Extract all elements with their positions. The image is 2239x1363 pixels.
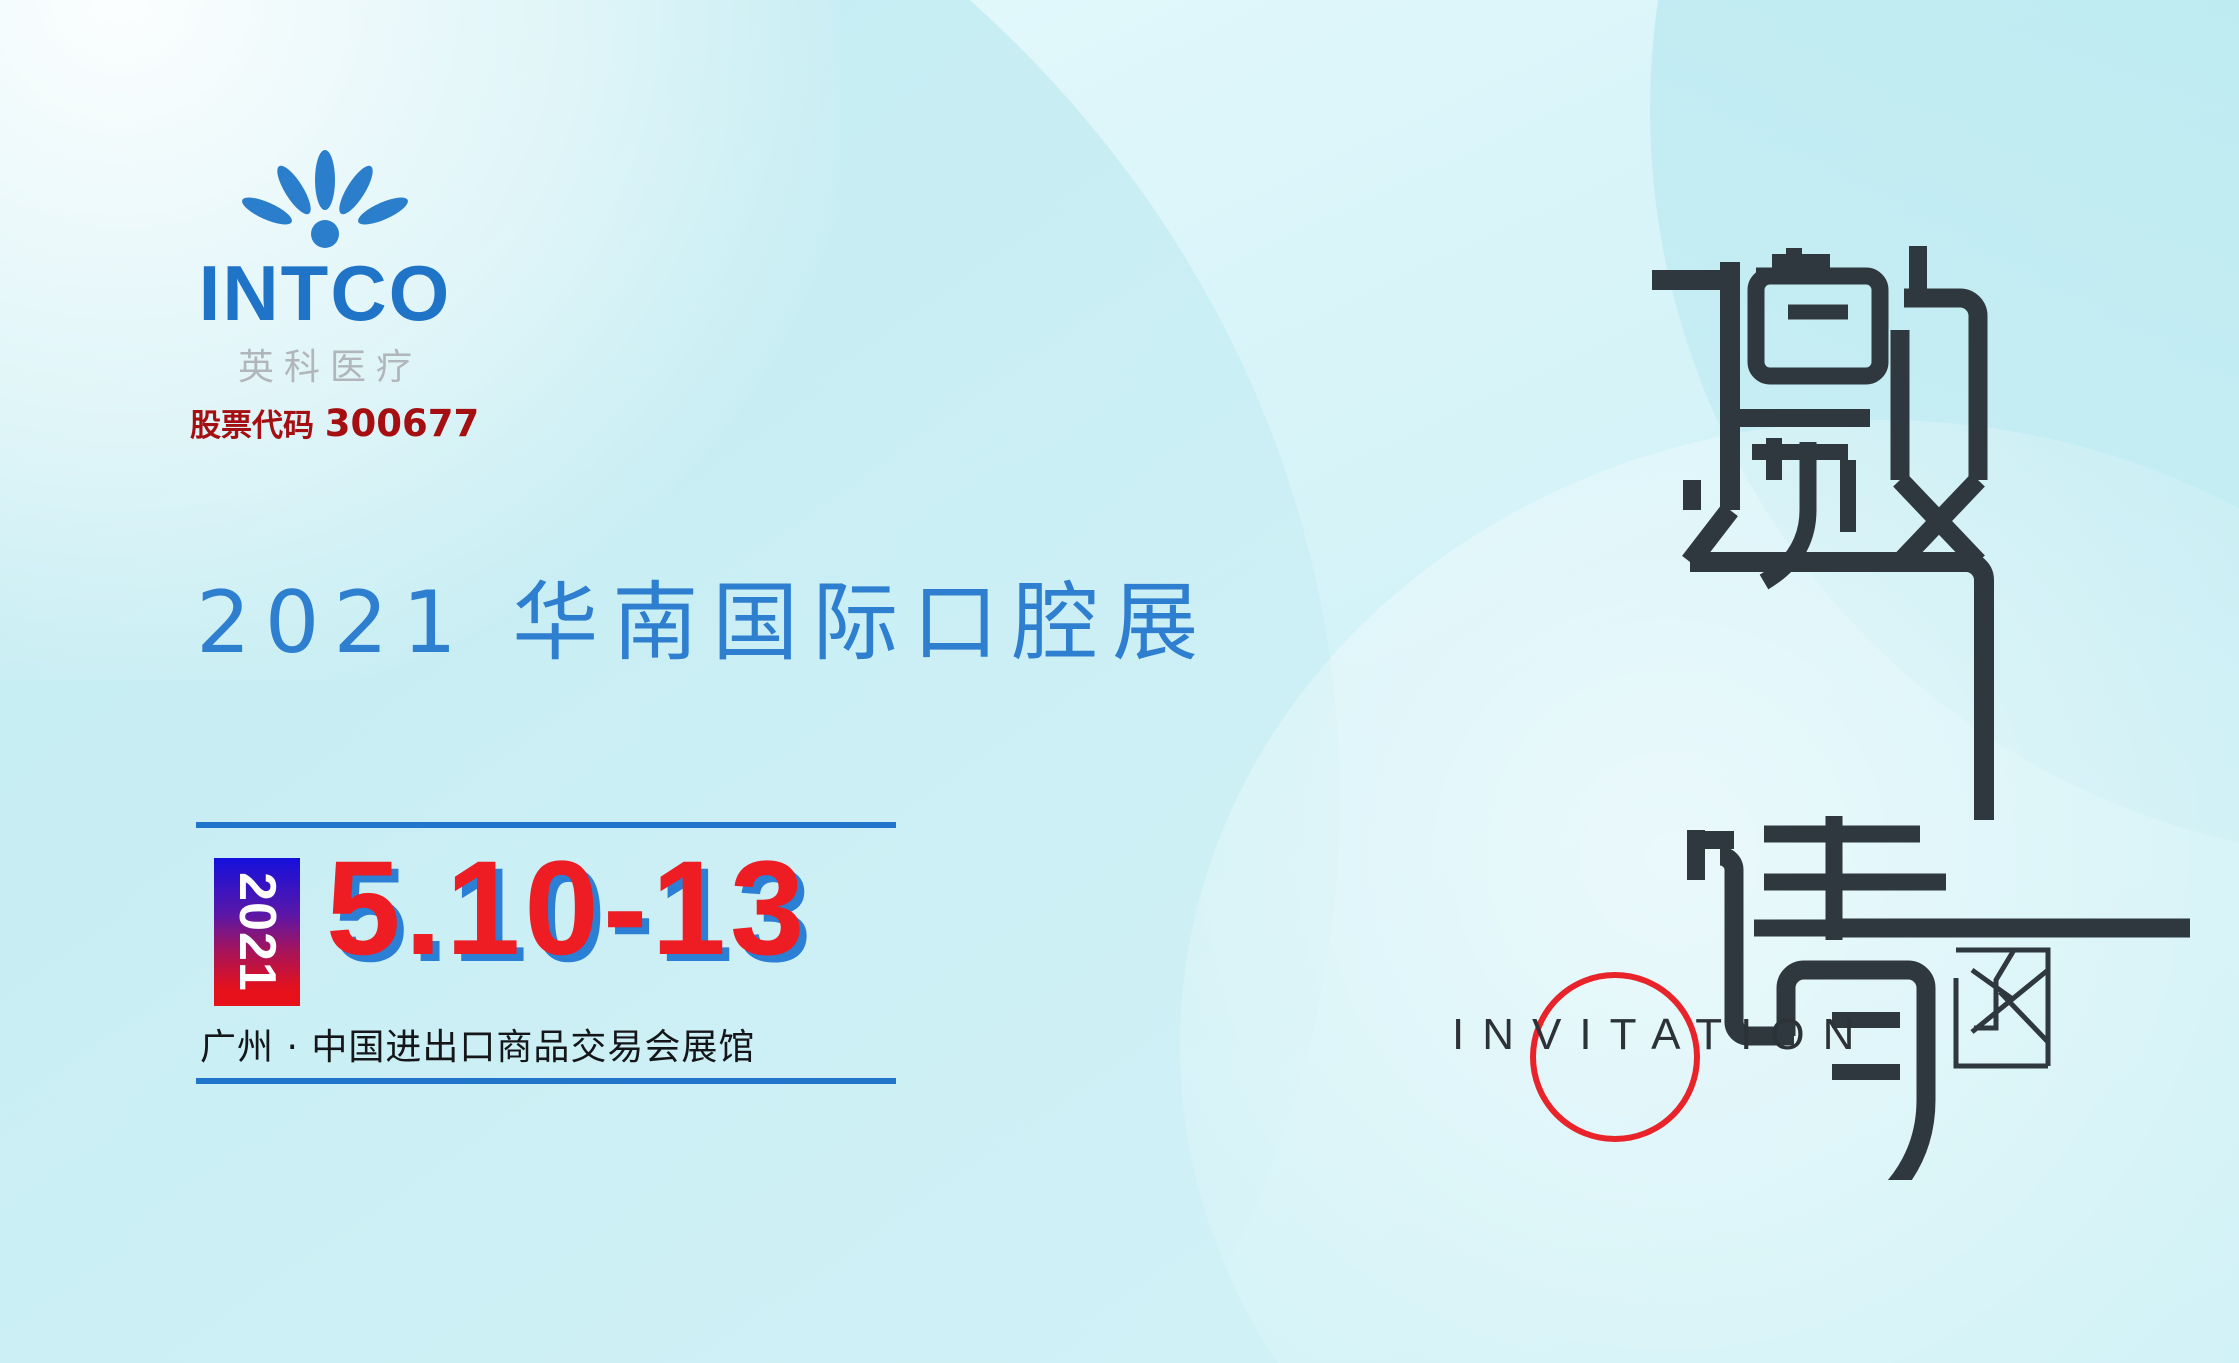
intco-logo: INTCO 英科医疗 股票代码 300677 [190,150,460,445]
left-content-column: INTCO 英科医疗 股票代码 300677 2021 华南国际口腔展 2021… [0,0,1280,1363]
divider-bottom [196,1078,896,1084]
event-title: 2021 华南国际口腔展 [196,552,1212,677]
year-badge: 2021 [214,858,300,1006]
stock-code-line: 股票代码 300677 [190,400,460,445]
divider-top [196,822,896,828]
event-venue: 广州 · 中国进出口商品交易会展馆 [200,1018,755,1070]
intco-burst-icon [225,150,425,250]
invitation-english-label: INVITATION [1452,1010,1872,1060]
event-date-row: 2021 5.10-13 [214,858,808,1006]
invitation-poster: INTCO 英科医疗 股票代码 300677 2021 华南国际口腔展 2021… [0,0,2239,1363]
intco-wordmark: INTCO [190,256,460,330]
intco-chinese-name: 英科医疗 [190,338,460,390]
year-badge-label: 2021 [227,872,287,992]
stock-code-label: 股票代码 [190,408,314,444]
event-date: 5.10-13 [326,842,808,976]
stock-code-value: 300677 [325,402,479,445]
